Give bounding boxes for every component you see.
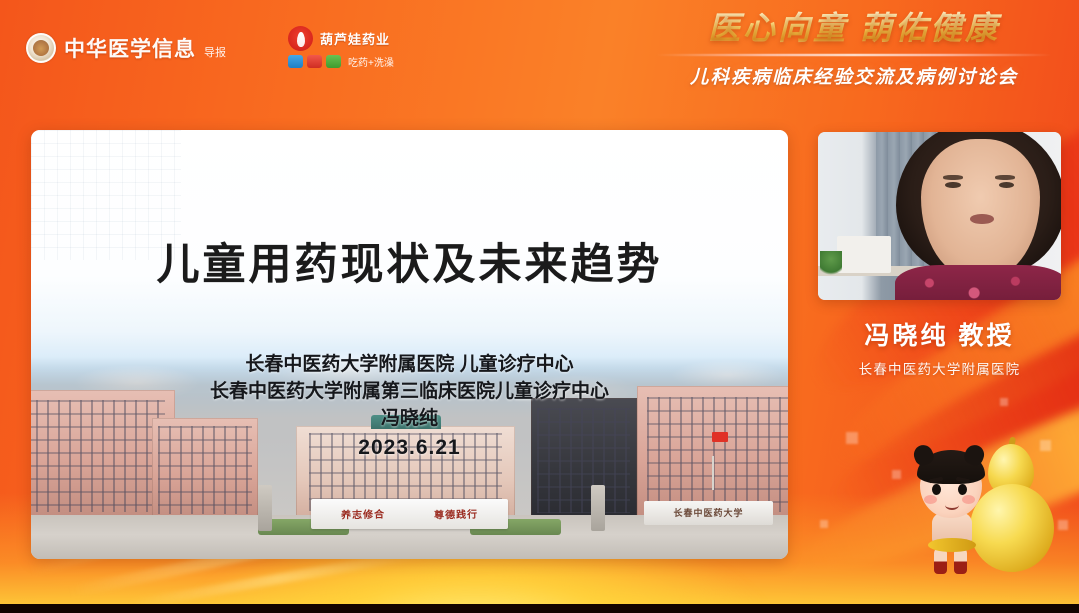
- speaker-brow-left: [943, 175, 963, 180]
- campus-stone-wall: 养志修合 尊德践行: [311, 499, 508, 529]
- slide-credit-line-3: 冯晓纯: [31, 406, 788, 433]
- speaker-mouth: [970, 214, 994, 224]
- event-subtitle: 儿科疾病临床经验交流及病例讨论会: [639, 63, 1069, 89]
- mascot-cheek-right: [962, 495, 975, 504]
- mini-red-icon: [307, 55, 322, 68]
- logo-primary-suffix: 导报: [204, 44, 226, 63]
- logo-huluwa-pharma[interactable]: 葫芦娃药业 吃药+洗澡: [288, 26, 394, 69]
- video-speaker-figure: [891, 132, 1061, 300]
- campus-pillar-right: [591, 485, 605, 531]
- speaker-video-feed[interactable]: [818, 132, 1061, 300]
- mascot-cheek-left: [924, 495, 937, 504]
- slide-credit-line-1: 长春中医药大学附属医院 儿童诊疗中心: [31, 352, 788, 379]
- broadcast-stage: 中华医学信息 导报 葫芦娃药业 吃药+洗澡 医心向童 葫佑健康 儿科疾病临床经验…: [0, 0, 1079, 613]
- mini-green-icon: [326, 55, 341, 68]
- campus-gate-sign: 长春中医药大学: [644, 501, 773, 525]
- video-plant: [820, 251, 842, 278]
- speaker-eye-right: [999, 182, 1014, 188]
- mascot-leg-left: [934, 548, 947, 574]
- stone-wall-right-text: 尊德践行: [434, 506, 478, 522]
- logo-secondary-tagline: 吃药+洗澡: [348, 54, 394, 69]
- video-cabinet: [837, 236, 890, 273]
- speaker-eye-left: [945, 182, 960, 188]
- sparkle-1: [846, 432, 858, 444]
- slide-credits: 长春中医药大学附属医院 儿童诊疗中心 长春中医药大学附属第三临床医院儿童诊疗中心…: [31, 352, 788, 463]
- sparkle-6: [1000, 398, 1008, 406]
- logo-secondary-text: 葫芦娃药业: [320, 29, 390, 48]
- speaker-brow-right: [995, 175, 1015, 180]
- mascot-leaf-skirt: [928, 538, 976, 552]
- slide-credit-line-2: 长春中医药大学附属第三临床医院儿童诊疗中心: [31, 379, 788, 406]
- mascot-mouth: [945, 500, 959, 510]
- speaker-name: 冯晓纯 教授: [800, 316, 1079, 352]
- speaker-organization: 长春中医药大学附属医院: [800, 358, 1079, 378]
- presentation-slide[interactable]: 养志修合 尊德践行 长春中医药大学 儿童用药现状及未来趋势 长春中医药大学附属医…: [31, 130, 788, 559]
- speaker-clothing: [895, 265, 1062, 300]
- logo-china-medical-tribune[interactable]: 中华医学信息 导报: [26, 33, 226, 63]
- bottom-letterbox-bar: [0, 604, 1079, 613]
- banner-divider: [639, 50, 1069, 60]
- sparkle-2: [892, 470, 901, 479]
- mascot-boy: [912, 450, 998, 576]
- calabash-boy-mascot-icon: [912, 436, 1064, 580]
- logo-secondary-top: 葫芦娃药业: [288, 26, 394, 51]
- slide-title: 儿童用药现状及未来趋势: [31, 230, 788, 292]
- event-banner: 医心向童 葫佑健康 儿科疾病临床经验交流及病例讨论会: [639, 8, 1069, 89]
- logo-primary-text: 中华医学信息: [64, 33, 196, 63]
- gate-sign-text: 长春中医药大学: [674, 506, 744, 519]
- event-title: 医心向童 葫佑健康: [639, 8, 1069, 48]
- speaker-credit: 冯晓纯 教授 长春中医药大学附属医院: [800, 316, 1079, 378]
- speaker-face: [921, 139, 1040, 278]
- mini-blue-icon: [288, 55, 303, 68]
- stone-wall-left-text: 养志修合: [341, 506, 385, 522]
- campus-pillar-left: [258, 485, 272, 531]
- mascot-eye-right: [958, 484, 967, 495]
- sparkle-4: [820, 520, 828, 528]
- slide-date: 2023.6.21: [31, 433, 788, 463]
- mascot-eye-left: [932, 484, 941, 495]
- logo-secondary-bottom: 吃药+洗澡: [288, 54, 394, 69]
- hulu-badge-icon: [288, 26, 313, 51]
- header-logos: 中华医学信息 导报 葫芦娃药业 吃药+洗澡: [26, 26, 394, 69]
- emblem-seal-icon: [26, 33, 56, 63]
